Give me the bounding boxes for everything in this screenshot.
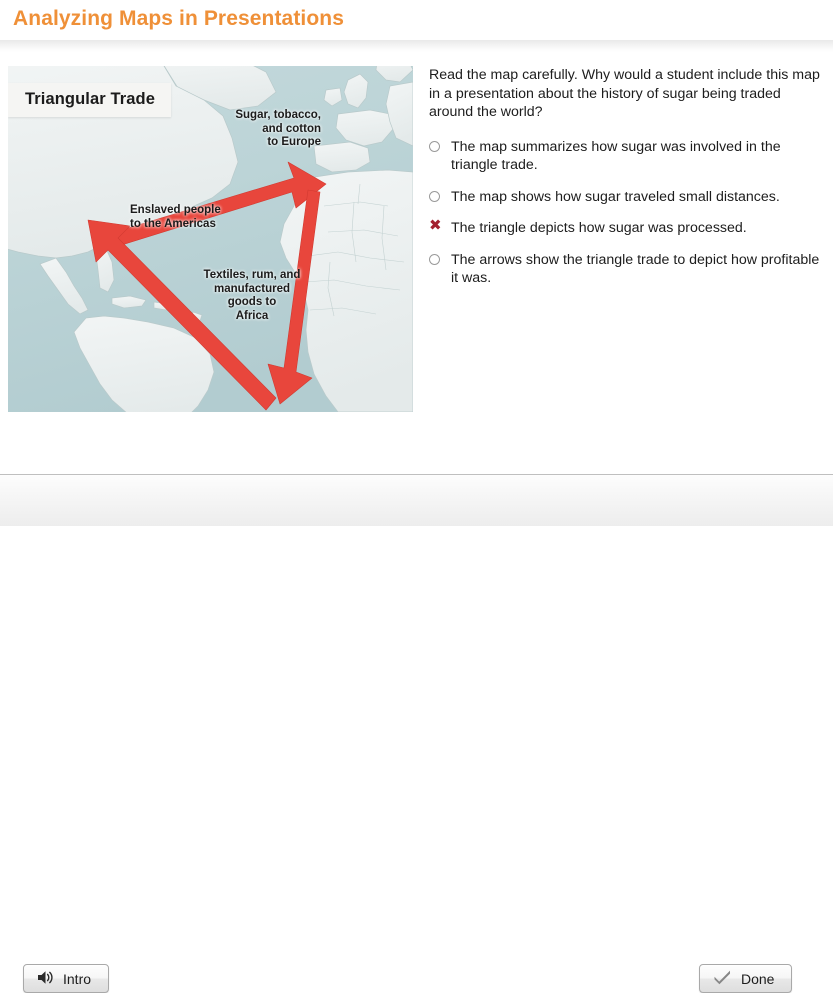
question-panel: Read the map carefully. Why would a stud…: [429, 66, 821, 301]
triangular-trade-map: Sugar, tobacco,and cottonto Europe Ensla…: [8, 66, 413, 412]
intro-button[interactable]: Intro: [23, 964, 109, 993]
answer-option-label: The map summarizes how sugar was involve…: [451, 138, 821, 175]
question-prompt: Read the map carefully. Why would a stud…: [429, 66, 821, 122]
answer-options-list: The map summarizes how sugar was involve…: [429, 138, 821, 288]
cross-glyph: ✖: [429, 220, 442, 231]
map-title-box: Triangular Trade: [8, 83, 171, 117]
answer-option-label: The triangle depicts how sugar was proce…: [451, 219, 821, 238]
map-title: Triangular Trade: [25, 90, 155, 109]
answer-option-d[interactable]: The arrows show the triangle trade to de…: [429, 251, 821, 288]
content-area: Sugar, tobacco,and cottonto Europe Ensla…: [0, 52, 833, 474]
radio-circle: [429, 254, 440, 265]
speaker-icon: [37, 970, 54, 988]
radio-button-d[interactable]: [429, 254, 451, 265]
radio-circle: [429, 191, 440, 202]
incorrect-cross-icon[interactable]: ✖: [429, 222, 451, 231]
checkmark-icon: [713, 969, 732, 988]
answer-option-label: The arrows show the triangle trade to de…: [451, 251, 821, 288]
intro-button-label: Intro: [63, 971, 91, 987]
app-footer: Intro Done: [0, 475, 833, 526]
answer-option-c[interactable]: ✖The triangle depicts how sugar was proc…: [429, 219, 821, 238]
answer-option-b[interactable]: The map shows how sugar traveled small d…: [429, 188, 821, 207]
radio-circle: [429, 141, 440, 152]
answer-option-a[interactable]: The map summarizes how sugar was involve…: [429, 138, 821, 175]
radio-button-b[interactable]: [429, 191, 451, 202]
page-title: Analyzing Maps in Presentations: [13, 7, 344, 31]
app-header: Analyzing Maps in Presentations: [0, 0, 833, 40]
answer-option-label: The map shows how sugar traveled small d…: [451, 188, 821, 207]
done-button[interactable]: Done: [699, 964, 792, 993]
map-graphic: [8, 66, 413, 412]
radio-button-a[interactable]: [429, 141, 451, 152]
done-button-label: Done: [741, 971, 774, 987]
header-divider-shadow: [0, 40, 833, 52]
